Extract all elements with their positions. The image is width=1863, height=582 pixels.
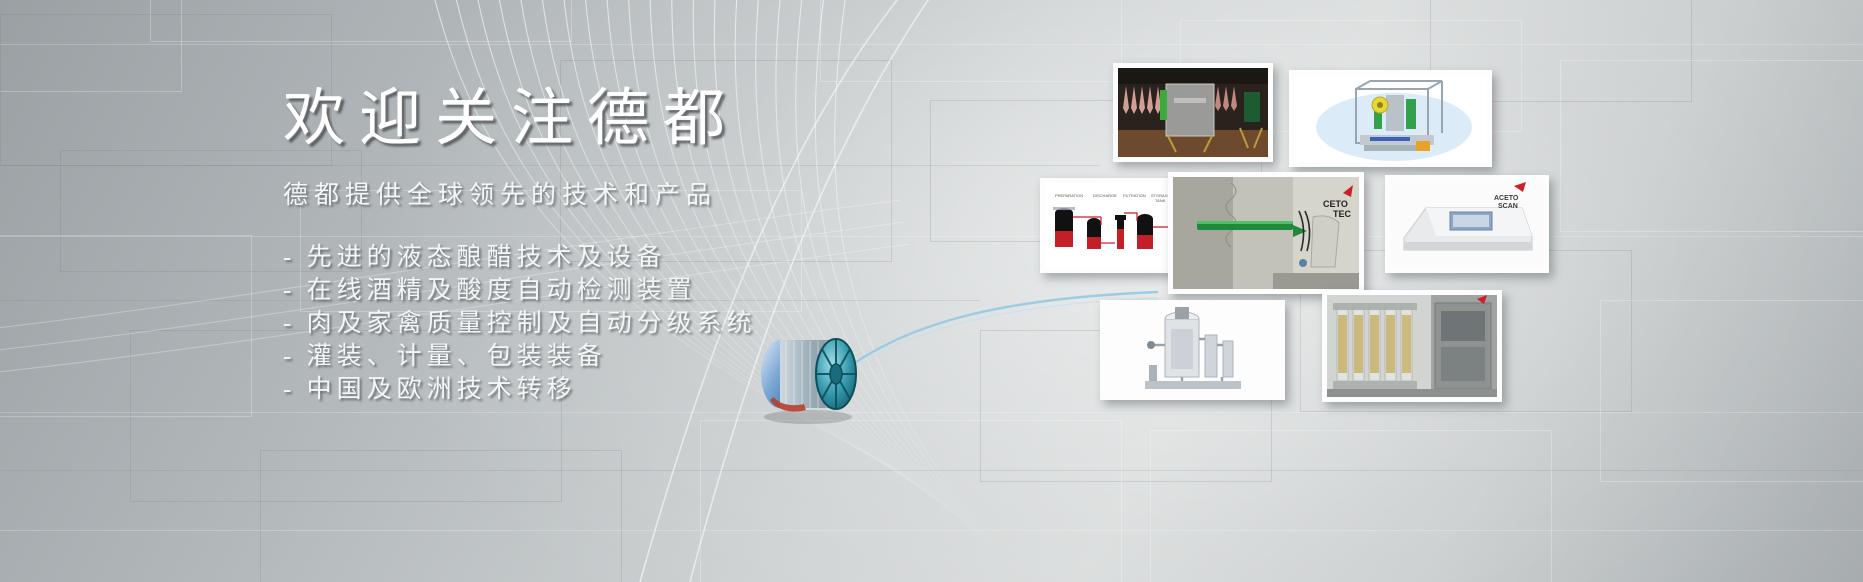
cetotec-brand-top: CETO [1323,199,1348,209]
cetotec-fermenter-photo[interactable]: CETO TEC [1168,172,1364,294]
diagram-label-preparation: PREPARATION [1055,193,1083,198]
bullet-dash: - [283,310,295,337]
list-item-label: 灌装、计量、包装装备 [307,343,607,370]
banner-subtitle: 德都提供全球领先的技术和产品 [283,175,1043,211]
promo-banner: 欢迎关注德都 德都提供全球领先的技术和产品 - 先进的液态酿醋技术及设备 - 在… [0,0,1863,582]
packaging-machine-cad-render[interactable] [1289,70,1492,167]
list-item-label: 先进的液态酿醋技术及设备 [307,244,667,271]
list-item: - 先进的液态酿醋技术及设备 [283,241,1043,274]
bullet-dash: - [283,277,295,304]
diagram-label-filtration: FILTRATION [1123,193,1146,198]
list-item-label: 在线酒精及酸度自动检测装置 [307,277,697,304]
diagram-label-storage-tank: TANK [1155,198,1166,203]
turbine-reel-graphic [748,322,873,427]
membrane-filtration-unit-photo[interactable] [1322,290,1502,402]
page-title: 欢迎关注德都 [283,88,1043,151]
acetoscan-brand-top: ACETO [1494,195,1519,202]
filtration-skid-render[interactable] [1100,300,1285,400]
bullet-dash: - [283,343,295,370]
acetoscan-brand-bottom: SCAN [1498,203,1518,210]
cetotec-brand-bottom: TEC [1333,209,1352,219]
bullet-dash: - [283,244,295,271]
diagram-label-discharge: DISCHARGE [1093,193,1117,198]
process-flow-diagram[interactable]: PREPARATION DISCHARGE FILTRATION STORAGE… [1040,178,1188,273]
poultry-processing-line-photo[interactable] [1113,63,1273,162]
list-item-label: 肉及家禽质量控制及自动分级系统 [307,310,757,337]
bullet-dash: - [283,376,295,403]
aceto-scan-analyzer-photo[interactable]: ACETO SCAN [1385,175,1549,273]
list-item-label: 中国及欧洲技术转移 [307,376,577,403]
